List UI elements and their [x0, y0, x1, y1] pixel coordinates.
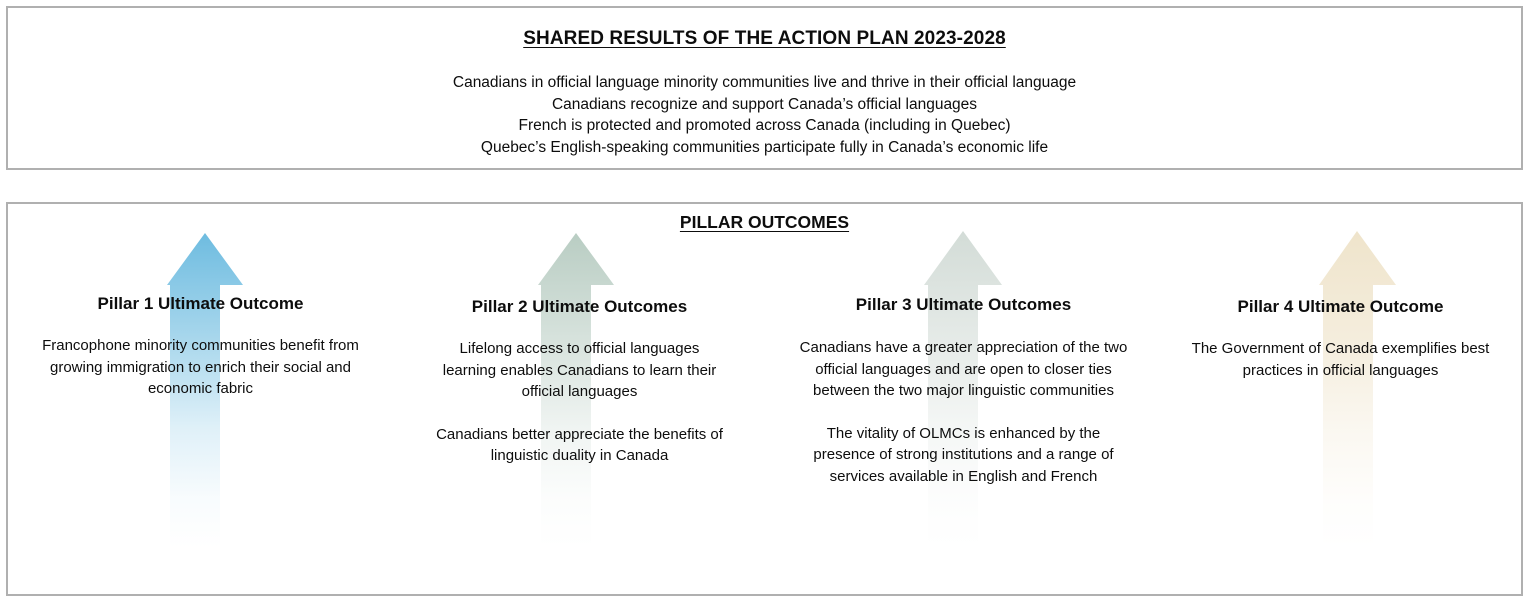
shared-result-line: Canadians recognize and support Canada’s… [8, 94, 1521, 116]
pillar-column-4: Pillar 4 Ultimate Outcome The Government… [1156, 204, 1525, 594]
pillar-2-heading: Pillar 2 Ultimate Outcomes [387, 297, 772, 317]
shared-result-line: Quebec’s English-speaking communities pa… [8, 137, 1521, 159]
pillar-3-outcome: The vitality of OLMCs is enhanced by the… [771, 423, 1156, 488]
pillar-4-outcome: The Government of Canada exemplifies bes… [1156, 338, 1525, 381]
pillar-3-heading: Pillar 3 Ultimate Outcomes [771, 295, 1156, 315]
pillar-1-heading: Pillar 1 Ultimate Outcome [8, 294, 393, 314]
pillar-column-1: Pillar 1 Ultimate Outcome Francophone mi… [8, 204, 393, 594]
pillar-outcomes-panel: PILLAR OUTCOMES Pillar 1 Ultimate Outcom… [6, 202, 1523, 596]
pillar-2-outcome: Canadians better appreciate the benefits… [387, 424, 772, 467]
shared-result-line: French is protected and promoted across … [8, 115, 1521, 137]
pillar-column-3: Pillar 3 Ultimate Outcomes Canadians hav… [771, 204, 1156, 594]
pillar-3-outcome: Canadians have a greater appreciation of… [771, 337, 1156, 402]
pillar-1-outcome: Francophone minority communities benefit… [8, 335, 393, 400]
pillar-2-outcome: Lifelong access to official languages le… [387, 338, 772, 403]
pillar-outcomes-title: PILLAR OUTCOMES [8, 212, 1521, 233]
pillar-4-text: Pillar 4 Ultimate Outcome The Government… [1156, 297, 1525, 381]
shared-results-list: Canadians in official language minority … [8, 72, 1521, 158]
pillar-4-heading: Pillar 4 Ultimate Outcome [1156, 297, 1525, 317]
shared-results-title: SHARED RESULTS OF THE ACTION PLAN 2023-2… [8, 28, 1521, 50]
shared-result-line: Canadians in official language minority … [8, 72, 1521, 94]
pillar-3-text: Pillar 3 Ultimate Outcomes Canadians hav… [771, 295, 1156, 487]
upward-arrow-icon [1156, 228, 1525, 548]
pillar-2-text: Pillar 2 Ultimate Outcomes Lifelong acce… [387, 297, 772, 467]
pillar-column-2: Pillar 2 Ultimate Outcomes Lifelong acce… [387, 204, 772, 594]
pillar-1-text: Pillar 1 Ultimate Outcome Francophone mi… [8, 294, 393, 400]
shared-results-panel: SHARED RESULTS OF THE ACTION PLAN 2023-2… [6, 6, 1523, 170]
